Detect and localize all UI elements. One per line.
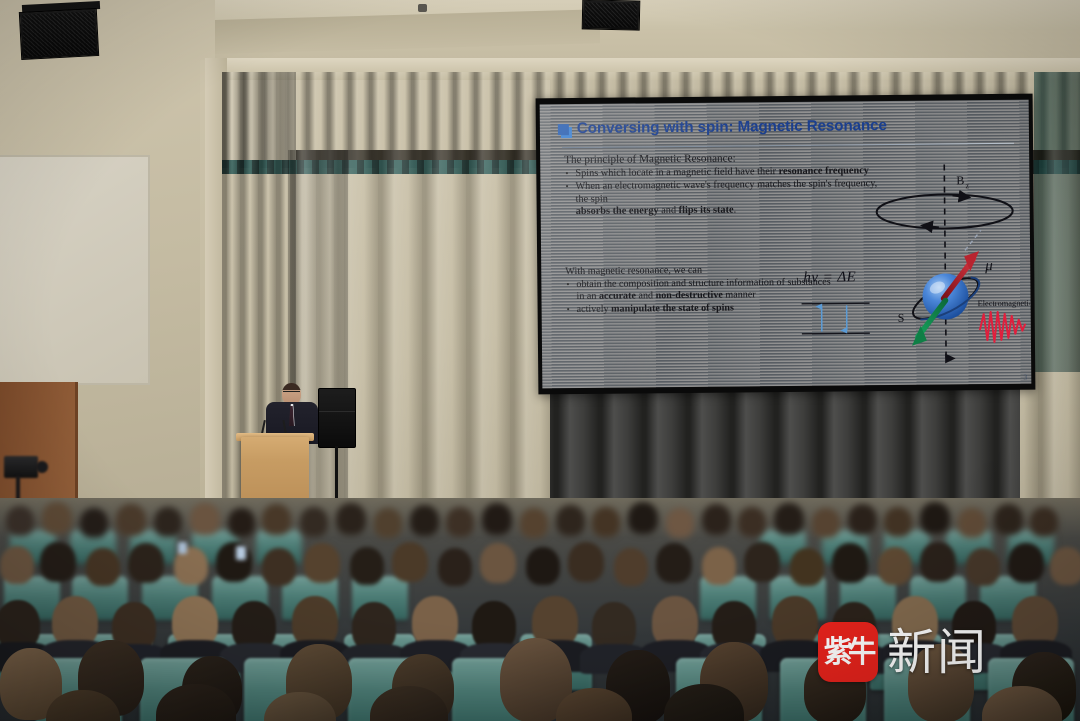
auditorium-photo-scene: Conversing with spin: Magnetic Resonance…: [0, 0, 1080, 721]
phone-screen-glint: [178, 542, 187, 554]
spin-precession-diagram: B z μ: [860, 158, 1030, 375]
ceiling-speaker-left: [19, 8, 99, 60]
slide-page-number: 3: [1023, 373, 1027, 382]
bullet-lead: Spins which locate in a magnetic field h…: [575, 166, 778, 179]
section1-bullets: Spins which locate in a magnetic field h…: [564, 165, 884, 219]
slide-section-principle: The principle of Magnetic Resonance: Spi…: [564, 151, 885, 220]
bullet-bold: absorbs the energy: [576, 205, 659, 217]
section1-heading: The principle of Magnetic Resonance:: [564, 151, 884, 166]
bullet-item: When an electromagnetic wave's frequency…: [564, 178, 884, 218]
bullet-item: actively manipulate the state of spins: [566, 302, 836, 317]
video-camera: [4, 456, 38, 478]
pa-speaker: [318, 388, 356, 448]
watermark-logo: 紫牛: [818, 622, 878, 682]
phone-screen-glint: [236, 546, 246, 560]
bullet-lead: actively: [577, 304, 612, 315]
axis-label-subscript-z: z: [965, 181, 969, 190]
em-field-label: Electromagnetic field: [978, 298, 1031, 308]
spin-label-S: S: [898, 311, 905, 325]
bullet-bold2: non-destructive: [656, 290, 723, 302]
bullet-item: obtain the composition and structure inf…: [565, 277, 835, 304]
bullet-bold: manipulate the state of spins: [611, 303, 734, 315]
bullet-tail: .: [734, 205, 737, 216]
audience-row-closest: [0, 684, 1080, 721]
title-underline: [562, 143, 1014, 148]
audience-seating: [0, 498, 1080, 721]
bullet-mid: and: [659, 205, 679, 216]
axis-label-B: B: [956, 173, 964, 187]
acoustic-panel: [0, 155, 150, 385]
ceiling-fixture: [418, 4, 427, 12]
speaker-divider: [319, 411, 355, 412]
presentation-slide: Conversing with spin: Magnetic Resonance…: [540, 100, 1032, 389]
watermark-brand-text: 新闻: [887, 628, 987, 677]
slide-title-row: Conversing with spin: Magnetic Resonance: [558, 110, 1017, 142]
em-wave-icon: [980, 312, 1026, 342]
bullet-lead: When an electromagnetic wave's frequency…: [575, 179, 877, 205]
section2-bullets: obtain the composition and structure inf…: [565, 277, 835, 317]
watermark-logo-text: 紫牛: [824, 637, 872, 667]
presenter-glasses: [283, 391, 300, 394]
energy-formula: hν = ΔE: [803, 269, 856, 287]
speaker-grille: [585, 2, 637, 27]
speaker-grille: [22, 11, 96, 57]
bullet-bold2: flips its state: [679, 205, 734, 217]
watermark: 紫牛 新闻: [818, 622, 987, 682]
ceiling-speaker-right: [582, 0, 641, 31]
audience-row: [0, 536, 1080, 592]
section2-heading: With magnetic resonance, we can: [565, 264, 835, 278]
bullet-tail: manner: [723, 289, 756, 300]
camera-lens-icon: [36, 461, 48, 473]
square-bullet-icon: [558, 124, 569, 135]
slide-title: Conversing with spin: Magnetic Resonance: [577, 117, 887, 137]
bullet-bold: accurate: [599, 291, 636, 302]
slide-section-applications: With magnetic resonance, we can obtain t…: [565, 264, 835, 318]
bullet-bold: resonance frequency: [779, 165, 869, 177]
bullet-continuation: absorbs the energy and flips its state.: [576, 203, 885, 218]
projection-screen: Conversing with spin: Magnetic Resonance…: [536, 94, 1036, 395]
moment-label-mu: μ: [984, 258, 993, 274]
bullet-mid: and: [636, 290, 656, 301]
